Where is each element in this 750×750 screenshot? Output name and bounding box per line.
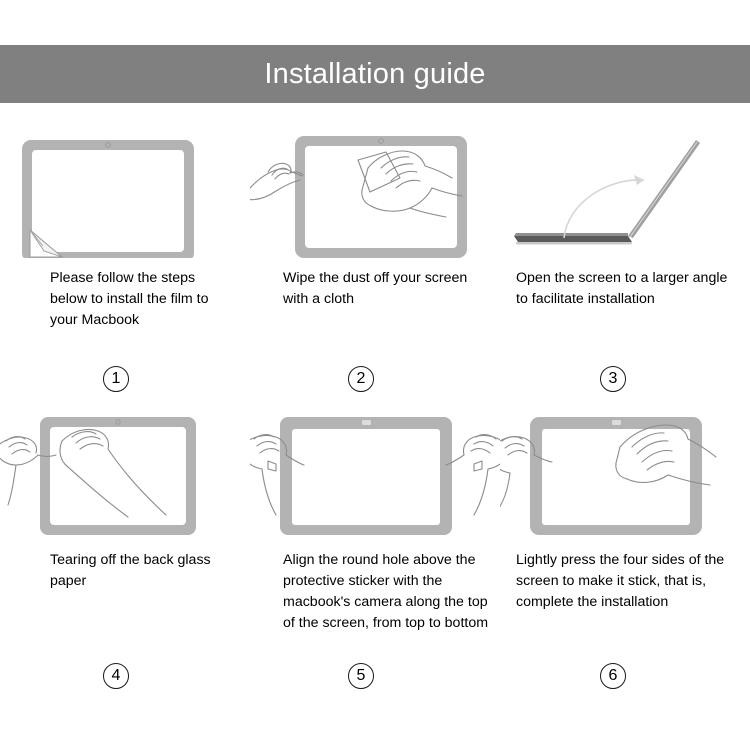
steps-row-top: Please follow the steps below to install… [0,118,750,405]
steps-row-bottom: Tearing off the back glass paper 4 [0,405,750,735]
step-4-number: 4 [103,663,129,689]
step-3-illustration [500,118,750,258]
step-1-illustration [0,118,250,258]
step-card-6: Lightly press the four sides of the scre… [500,405,750,735]
step-card-2: Wipe the dust off your screen with a clo… [250,118,500,405]
header-banner: Installation guide [0,45,750,103]
step-2-number: 2 [348,366,374,392]
page-title: Installation guide [264,60,485,89]
step-card-1: Please follow the steps below to install… [0,118,250,405]
step-3-number: 3 [600,366,626,392]
step-5-caption: Align the round hole above the protectiv… [283,550,493,634]
step-1-number: 1 [103,366,129,392]
step-card-4: Tearing off the back glass paper 4 [0,405,250,735]
step-card-5: Align the round hole above the protectiv… [250,405,500,735]
step-3-caption: Open the screen to a larger angle to fac… [516,268,741,310]
step-5-number: 5 [348,663,374,689]
step-2-illustration [250,118,500,258]
installation-guide-page: Installation guide [0,0,750,750]
step-6-number: 6 [600,663,626,689]
step-6-illustration [500,405,750,545]
step-4-illustration [0,405,250,545]
step-1-caption: Please follow the steps below to install… [50,268,235,331]
step-2-caption: Wipe the dust off your screen with a clo… [283,268,493,310]
step-4-caption: Tearing off the back glass paper [50,550,235,592]
step-card-3: Open the screen to a larger angle to fac… [500,118,750,405]
step-5-illustration [250,405,500,545]
step-6-caption: Lightly press the four sides of the scre… [516,550,741,613]
steps-grid: Please follow the steps below to install… [0,118,750,735]
